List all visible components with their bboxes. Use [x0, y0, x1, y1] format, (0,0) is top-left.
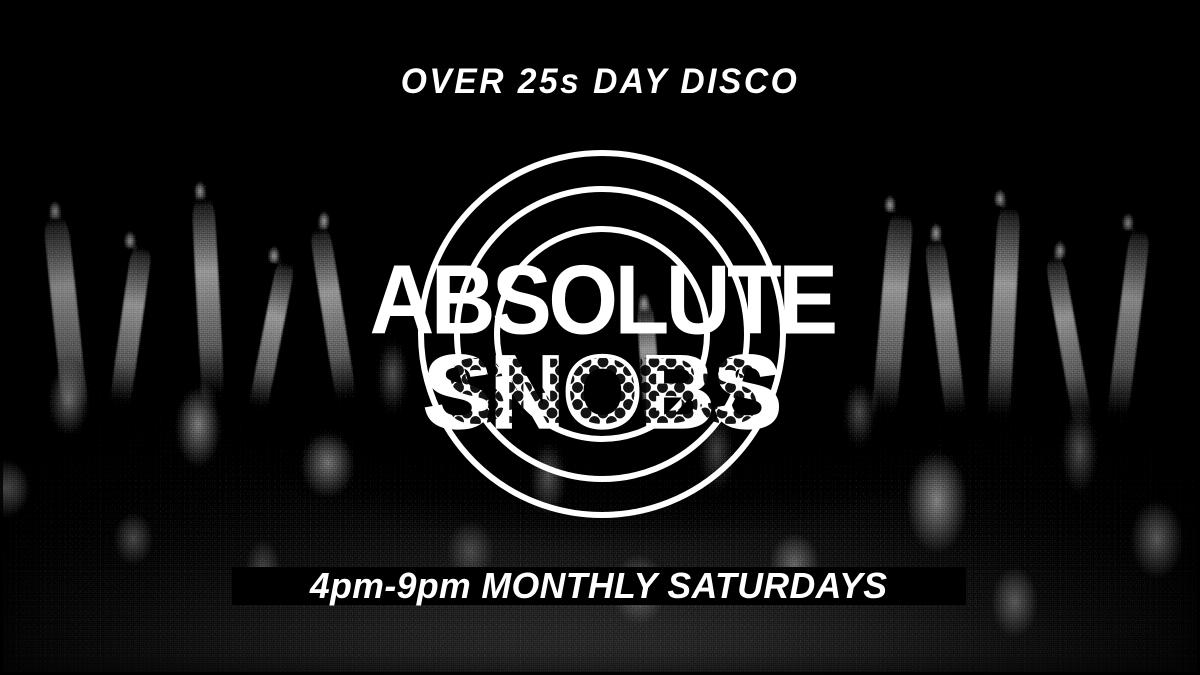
logo-word-absolute: ABSOLUTE [343, 262, 861, 339]
event-poster: OVER 25s DAY DISCO ABSOLUTE SNOBS 4pm-9p… [0, 0, 1200, 675]
footer-detail-bar: 4pm-9pm MONTHLY SATURDAYS [232, 567, 966, 605]
logo-word-snobs: SNOBS [333, 342, 871, 444]
footer-time-and-frequency: 4pm-9pm MONTHLY SATURDAYS [310, 568, 888, 604]
absolute-snobs-logo: ABSOLUTE SNOBS [418, 150, 786, 518]
headline-over-25s-day-disco: OVER 25s DAY DISCO [24, 64, 1176, 99]
logo-wordmark: ABSOLUTE SNOBS [348, 266, 856, 441]
logo-word-snobs-wrap: SNOBS [348, 345, 856, 441]
